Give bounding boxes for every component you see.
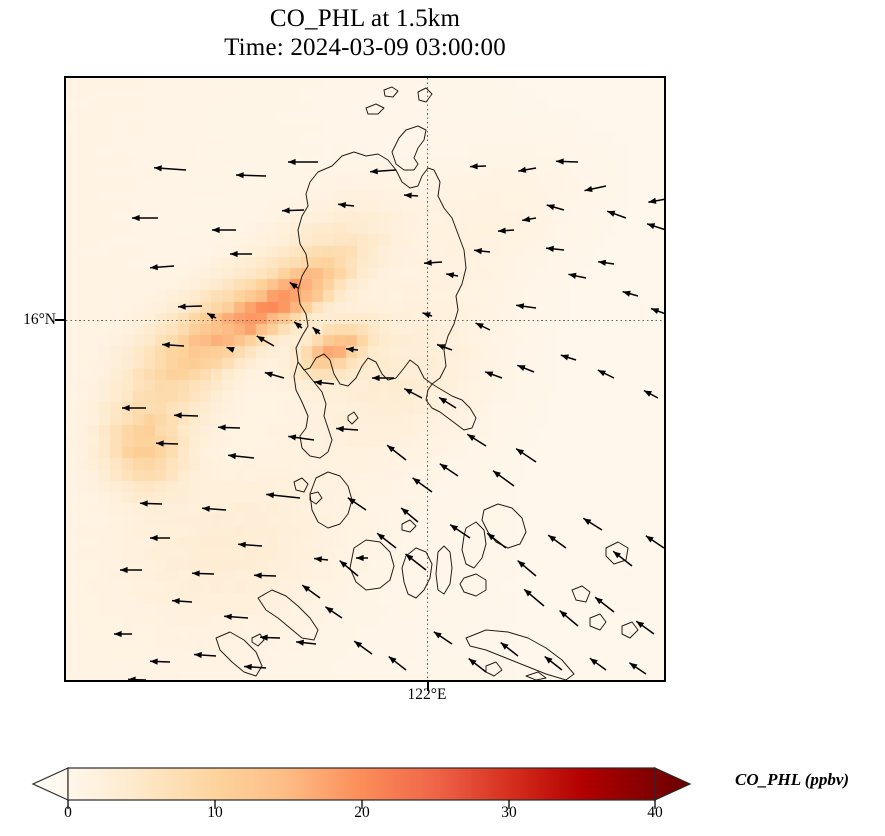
gridline-16n [66,320,664,321]
figure-title: CO_PHL at 1.5km [0,4,730,33]
axis-label-16n: 16°N [10,311,56,329]
tick-mark-16n [55,319,64,321]
figure-subtitle-time: Time: 2024-03-09 03:00:00 [0,33,730,62]
axis-label-122e: 122°E [396,686,458,704]
colorbar-label: CO_PHL (ppbv) [735,770,849,790]
colorbar-extend-max [655,768,690,800]
colorbar-tick-20: 20 [342,804,382,822]
figure-title-block: CO_PHL at 1.5km Time: 2024-03-09 03:00:0… [0,4,730,62]
map-axes[interactable] [64,76,666,682]
colorbar-tick-10: 10 [195,804,235,822]
colorbar-tick-0: 0 [48,804,88,822]
colorbar-group[interactable]: 0 10 20 30 40 CO_PHL (ppbv) [0,754,885,836]
co-concentration-heatmap [66,78,664,680]
colorbar-tick-40: 40 [635,804,675,822]
gridline-122e [427,78,428,680]
colorbar-gradient[interactable] [68,768,655,800]
colorbar-tick-30: 30 [489,804,529,822]
colorbar-extend-min [33,768,68,800]
